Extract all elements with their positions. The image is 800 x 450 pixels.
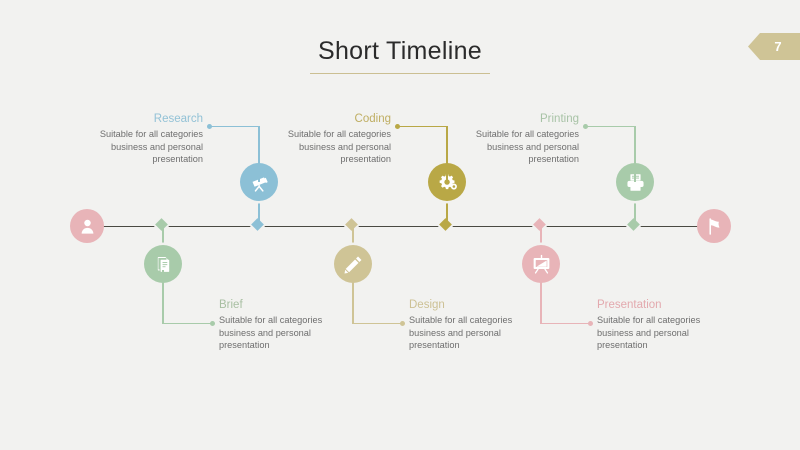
connector-endpoint-dot [207,124,212,129]
milestone-description: Suitable for all categories business and… [67,128,203,166]
page-title-wrap: Short Timeline [0,38,800,74]
milestone-title: Research [67,112,203,126]
timeline-start-marker [70,209,104,243]
milestone-title: Design [409,298,545,312]
flag-icon [705,217,724,236]
timeline-end-marker [697,209,731,243]
page-number-label: 7 [766,39,781,54]
milestone-label: ResearchSuitable for all categories busi… [67,112,203,166]
connector-vertical [162,270,163,324]
timeline-axis [96,226,704,227]
connector-horizontal [353,323,401,324]
milestone-label: BriefSuitable for all categories busines… [219,298,355,352]
milestone-description: Suitable for all categories business and… [443,128,579,166]
connector-horizontal [163,323,211,324]
milestone-title: Printing [443,112,579,126]
connector-horizontal [587,126,635,127]
connector-vertical [540,270,541,324]
person-icon [78,217,97,236]
connector-horizontal [211,126,259,127]
milestone-label: CodingSuitable for all categories busine… [255,112,391,166]
milestone-description: Suitable for all categories business and… [255,128,391,166]
milestone-title: Presentation [597,298,733,312]
connector-endpoint-dot [583,124,588,129]
milestone-label: DesignSuitable for all categories busine… [409,298,545,352]
connector-vertical [352,270,353,324]
milestone-title: Brief [219,298,355,312]
milestone-label: PresentationSuitable for all categories … [597,298,733,352]
connector-horizontal [399,126,447,127]
milestone-title: Coding [255,112,391,126]
milestone-description: Suitable for all categories business and… [219,314,355,352]
milestone-label: PrintingSuitable for all categories busi… [443,112,579,166]
connector-endpoint-dot [588,321,593,326]
connector-endpoint-dot [210,321,215,326]
timeline-slide: Short Timeline 7 BriefSuitable for all c… [0,0,800,450]
milestone-description: Suitable for all categories business and… [409,314,545,352]
connector-endpoint-dot [395,124,400,129]
connector-endpoint-dot [400,321,405,326]
connector-vertical [634,126,635,182]
page-title: Short Timeline [310,38,490,74]
connector-horizontal [541,323,589,324]
milestone-description: Suitable for all categories business and… [597,314,733,352]
